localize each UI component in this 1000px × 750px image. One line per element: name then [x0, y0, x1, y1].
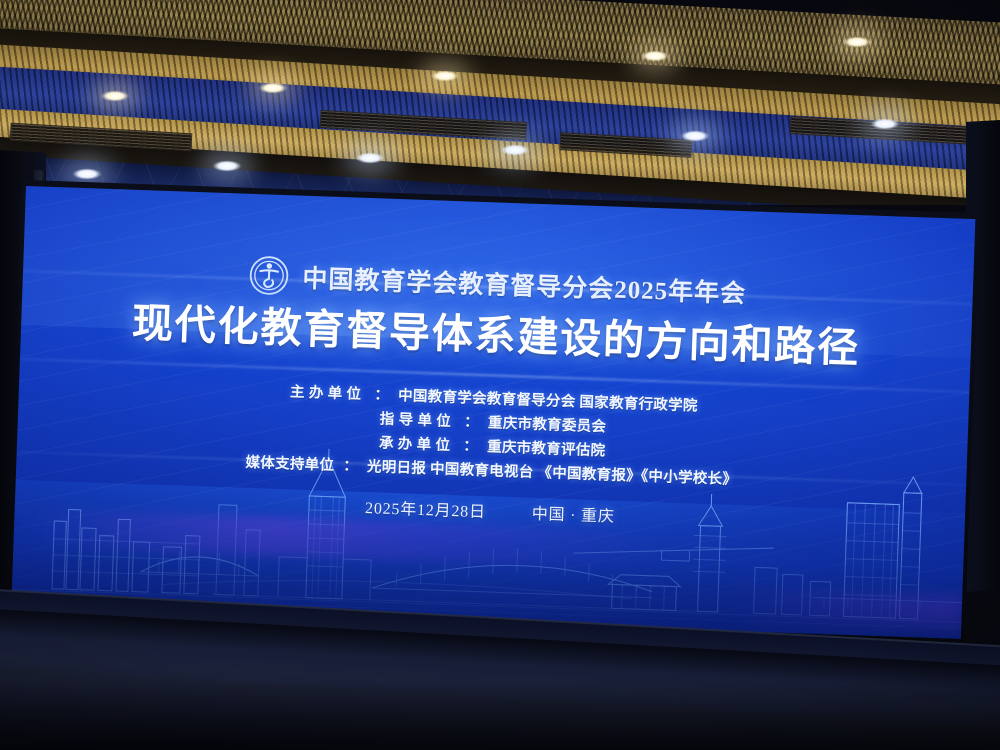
ceiling-spotlight — [430, 70, 460, 82]
foreground-shadow — [0, 680, 1000, 750]
ceiling-spotlight — [355, 152, 385, 164]
led-screen-surface: 中国教育学会教育督导分会2025年年会 现代化教育督导体系建设的方向和路径 主办… — [11, 186, 975, 639]
ceiling-spotlight — [680, 130, 710, 142]
ceiling-spotlight — [258, 82, 288, 94]
organizer-colon: ： — [463, 434, 479, 456]
screen-content: 中国教育学会教育督导分会2025年年会 现代化教育督导体系建设的方向和路径 主办… — [11, 186, 975, 639]
organizer-label: 主办单位 — [290, 380, 366, 404]
china-education-society-emblem-icon — [249, 255, 290, 296]
organizer-label: 指导单位 — [379, 407, 455, 431]
ceiling-spotlight — [100, 90, 130, 102]
organizer-colon: ： — [464, 410, 480, 432]
organizer-line: 主办单位 ： 中国教育学会教育督导分会 国家教育行政学院 — [290, 380, 698, 415]
ceiling-spotlight — [842, 36, 872, 48]
organizer-value: 重庆市教育委员会 — [488, 411, 607, 436]
ceiling-spotlight — [72, 168, 102, 180]
ceiling-spotlight — [212, 160, 242, 172]
event-location: 中国 · 重庆 — [531, 500, 615, 527]
led-screen: 中国教育学会教育督导分会2025年年会 现代化教育督导体系建设的方向和路径 主办… — [11, 186, 975, 639]
organizer-colon: ： — [343, 454, 359, 476]
organizer-line: 媒体支持单位 ： 光明日报 中国教育电视台 《中国教育报》《中小学校长》 — [245, 451, 737, 489]
organizer-label: 承办单位 — [379, 431, 455, 455]
organizer-value: 重庆市教育评估院 — [487, 435, 606, 460]
organizer-colon: ： — [374, 383, 390, 405]
conference-hall-photo: 中国教育学会教育督导分会2025年年会 现代化教育督导体系建设的方向和路径 主办… — [0, 0, 1000, 750]
event-date: 2025年12月28日 — [365, 494, 487, 522]
hall-ceiling — [0, 0, 1000, 205]
ceiling-spotlight — [500, 144, 530, 156]
ceiling-spotlight — [640, 50, 670, 62]
organizer-value: 光明日报 中国教育电视台 《中国教育报》《中小学校长》 — [367, 455, 738, 489]
organizer-label: 媒体支持单位 — [245, 451, 334, 475]
ceiling-spotlight — [870, 118, 900, 130]
organizer-block: 主办单位 ： 中国教育学会教育督导分会 国家教育行政学院 指导单位 ： 重庆市教… — [16, 371, 969, 497]
